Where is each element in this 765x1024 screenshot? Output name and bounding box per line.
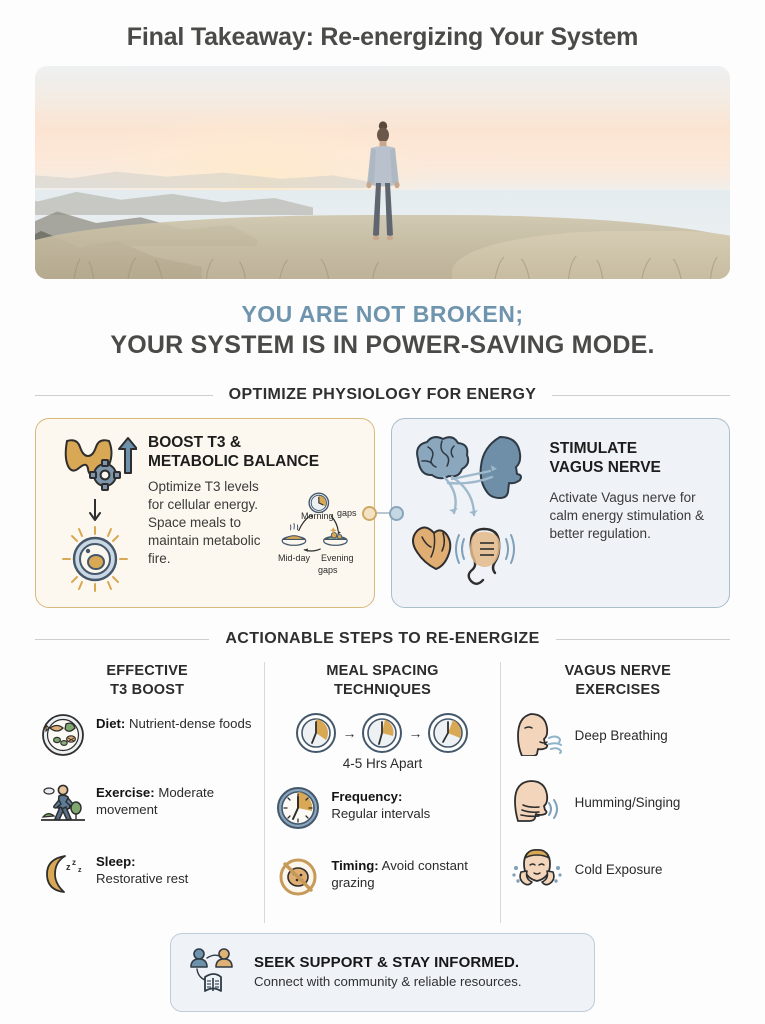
footer-title: SEEK SUPPORT & STAY INFORMED. (254, 953, 522, 972)
cycle-label-morning: Morning (301, 511, 334, 521)
thyroid-gear-icon (53, 435, 137, 497)
meal-cycle-diagram: Morning gaps Evening Mid-day gaps (276, 475, 358, 579)
hero-grass (35, 239, 730, 279)
vagus-nerve-diagram-icon (408, 433, 540, 585)
card-connector (362, 505, 404, 521)
card-title-line-1: BOOST T3 & (148, 434, 241, 451)
clock-sequence: → → (275, 712, 489, 754)
list-item[interactable]: Deep Breathing (511, 712, 725, 761)
seek-support-banner[interactable]: SEEK SUPPORT & STAY INFORMED. Connect wi… (170, 933, 595, 1012)
footer-subtitle: Connect with community & reliable resour… (254, 974, 522, 991)
list-item-text: Cold Exposure (575, 861, 663, 878)
card-title-line-2: METABOLIC BALANCE (148, 453, 319, 470)
list-item-label: Frequency: (331, 789, 402, 804)
section-1-heading: OPTIMIZE PHYSIOLOGY FOR ENERGY (35, 386, 730, 404)
connector-dot-left (362, 506, 377, 521)
list-item[interactable]: Cold Exposure (511, 846, 725, 895)
column-title-line-1: EFFECTIVE (106, 663, 188, 679)
svg-text:z: z (66, 862, 71, 872)
svg-text:z: z (72, 858, 76, 867)
list-item[interactable]: Exercise: Moderate movement (40, 781, 254, 832)
card-stimulate-vagus[interactable]: STIMULATE VAGUS NERVE Activate Vagus ner… (391, 418, 731, 608)
section-1-heading-text: OPTIMIZE PHYSIOLOGY FOR ENERGY (229, 386, 537, 404)
midday-plate-icon (282, 524, 305, 546)
tagline-line-1: YOU ARE NOT BROKEN; (0, 301, 765, 328)
list-item-text: Diet: Nutrient-dense foods (96, 712, 251, 732)
column-title-line-2: T3 BOOST (110, 682, 184, 698)
list-item-desc: Regular intervals (331, 806, 430, 821)
clock-icon (427, 712, 469, 754)
humming-head-icon (511, 779, 563, 828)
arrow-right-icon: → (408, 726, 422, 740)
tagline-line-2: YOUR SYSTEM IS IN POWER-SAVING MODE. (0, 331, 765, 360)
clock-face-icon (275, 785, 321, 836)
list-item[interactable]: Frequency: Regular intervals (275, 785, 489, 836)
section-2-heading-text: ACTIONABLE STEPS TO RE-ENERGIZE (225, 630, 539, 648)
column-3-title: VAGUS NERVE EXERCISES (511, 662, 725, 700)
column-effective-t3-boost: EFFECTIVE T3 BOOST Diet: Nutr (30, 662, 264, 923)
connector-dot-right (389, 506, 404, 521)
card-boost-t3-title: BOOST T3 & METABOLIC BALANCE (148, 433, 358, 471)
column-2-title: MEAL SPACING TECHNIQUES (275, 662, 489, 700)
list-item-desc: Nutrient-dense foods (129, 716, 251, 731)
cycle-label-midday: Mid-day (278, 553, 310, 563)
card-title-line-1: STIMULATE (550, 440, 638, 457)
heading-rule-left (35, 639, 209, 640)
down-arrow-icon (87, 499, 103, 525)
list-item-text: Timing: Avoid constant grazing (331, 854, 489, 891)
column-vagus-nerve-exercises: VAGUS NERVE EXERCISES Deep Breathing (500, 662, 735, 923)
list-item-label: Timing: (331, 858, 378, 873)
list-item[interactable]: Timing: Avoid constant grazing (275, 854, 489, 905)
column-1-title: EFFECTIVE T3 BOOST (40, 662, 254, 700)
clock-icon (309, 494, 328, 513)
brain-icon (417, 437, 468, 478)
section-2-heading: ACTIONABLE STEPS TO RE-ENERGIZE (35, 630, 730, 648)
cycle-label-gaps-bottom: gaps (318, 565, 338, 575)
card-boost-t3[interactable]: BOOST T3 & METABOLIC BALANCE Optimize T3… (35, 418, 375, 608)
cycle-label-evening: Evening (321, 553, 354, 563)
crescent-moon-sleep-icon: z z z (40, 850, 86, 901)
list-item[interactable]: Humming/Singing (511, 779, 725, 828)
list-item-text: Deep Breathing (575, 727, 668, 744)
cycle-label-gaps-top: gaps (337, 508, 357, 518)
cell-energy-icon (57, 525, 133, 593)
list-item-text: Frequency: Regular intervals (331, 785, 430, 822)
meal-cycle-arrows (276, 475, 358, 579)
plate-of-food-icon (40, 712, 86, 763)
heading-rule-right (552, 395, 730, 396)
cold-exposure-face-icon (511, 846, 563, 895)
no-grazing-icon (275, 854, 321, 905)
page-title: Final Takeaway: Re-energizing Your Syste… (0, 0, 765, 52)
list-item[interactable]: z z z Sleep: Restorative rest (40, 850, 254, 901)
column-title-line-1: VAGUS NERVE (565, 663, 671, 679)
actionable-steps-columns: EFFECTIVE T3 BOOST Diet: Nutr (30, 662, 735, 923)
list-item-label: Diet: (96, 716, 125, 731)
clock-sequence-caption: 4-5 Hrs Apart (275, 756, 489, 771)
tagline: YOU ARE NOT BROKEN; YOUR SYSTEM IS IN PO… (0, 301, 765, 360)
list-item[interactable]: Diet: Nutrient-dense foods (40, 712, 254, 763)
list-item-text: Exercise: Moderate movement (96, 781, 254, 818)
column-title-line-2: TECHNIQUES (334, 682, 431, 698)
walking-person-icon (40, 781, 86, 832)
column-meal-spacing: MEAL SPACING TECHNIQUES → → (264, 662, 499, 923)
list-item-text: Sleep: Restorative rest (96, 850, 188, 887)
people-and-book-icon (187, 945, 241, 1000)
svg-text:z: z (78, 867, 82, 874)
list-item-label: Exercise: (96, 785, 155, 800)
head-profile-icon (480, 437, 520, 498)
arrow-right-icon: → (342, 726, 356, 740)
column-title-line-2: EXERCISES (575, 682, 660, 698)
column-title-line-1: MEAL SPACING (326, 663, 438, 679)
card-vagus-title: STIMULATE VAGUS NERVE (550, 439, 714, 477)
clock-icon (361, 712, 403, 754)
intestines-icon (456, 529, 514, 584)
standing-woman-silhouette (355, 117, 411, 245)
clock-icon (295, 712, 337, 754)
heading-rule-left (35, 395, 213, 396)
heart-icon (413, 527, 450, 569)
evening-plate-icon (324, 527, 347, 545)
deep-breathing-head-icon (511, 712, 563, 761)
card-vagus-body: Activate Vagus nerve for calm energy sti… (550, 489, 714, 542)
optimize-physiology-cards: BOOST T3 & METABOLIC BALANCE Optimize T3… (35, 418, 730, 608)
heading-rule-right (556, 639, 730, 640)
card-title-line-2: VAGUS NERVE (550, 459, 661, 476)
list-item-text: Humming/Singing (575, 794, 681, 811)
list-item-label: Sleep: (96, 854, 136, 869)
list-item-desc: Restorative rest (96, 871, 188, 886)
hero-image (35, 66, 730, 279)
card-boost-t3-body: Optimize T3 levels for cellular energy. … (148, 478, 270, 567)
